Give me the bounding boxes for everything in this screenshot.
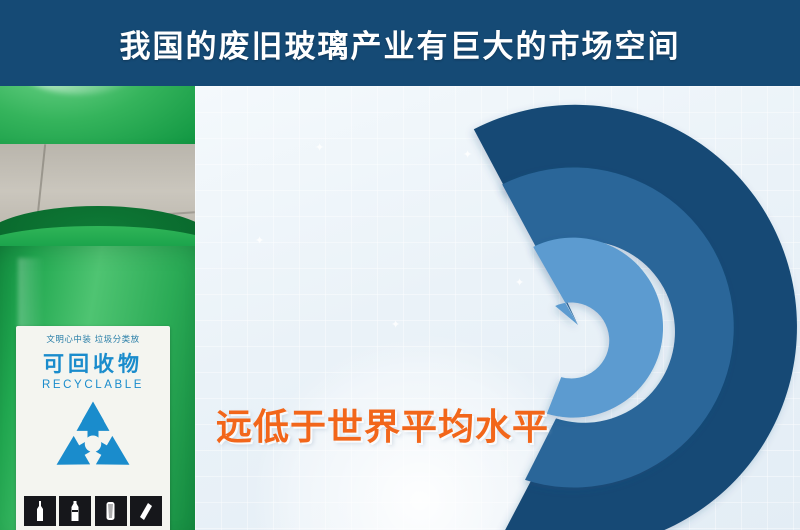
recycling-bin-photo: 文明心中装 垃圾分类放 可回收物 RECYCLABLE — [0, 86, 195, 530]
sparkle-icon: ✦ — [515, 276, 524, 289]
sparkle-icon: ✦ — [255, 234, 264, 247]
label-category-english: RECYCLABLE — [42, 379, 144, 391]
sparkle-icon: ✦ — [463, 148, 472, 161]
sparkle-icon: ✦ — [599, 458, 608, 471]
infographic-poster: 我国的废旧玻璃产业有巨大的市场空间 ✦ ✦ ✦ ✦ ✦ ✦ ✦ 德国回收率高达9… — [0, 0, 800, 530]
plastic-bottle-icon — [59, 496, 91, 526]
metal-can-icon — [95, 496, 127, 526]
recycle-symbol-icon — [47, 398, 139, 484]
glass-bottle-icon — [24, 496, 56, 526]
recyclable-items-row — [24, 496, 162, 526]
label-slogan: 文明心中装 垃圾分类放 — [46, 333, 139, 345]
page-title: 我国的废旧玻璃产业有巨大的市场空间 — [0, 0, 800, 86]
header-bar: 我国的废旧玻璃产业有巨大的市场空间 — [0, 0, 800, 86]
paper-carton-icon — [130, 496, 162, 526]
headline-text: 远低于世界平均水平 — [216, 398, 549, 450]
sparkle-icon: ✦ — [315, 141, 324, 154]
label-category: 可回收物 — [43, 348, 143, 378]
sparkle-icon: ✦ — [391, 318, 400, 331]
recyclable-label: 文明心中装 垃圾分类放 可回收物 RECYCLABLE — [16, 326, 170, 530]
content-panel: ✦ ✦ ✦ ✦ ✦ ✦ ✦ — [195, 86, 800, 530]
